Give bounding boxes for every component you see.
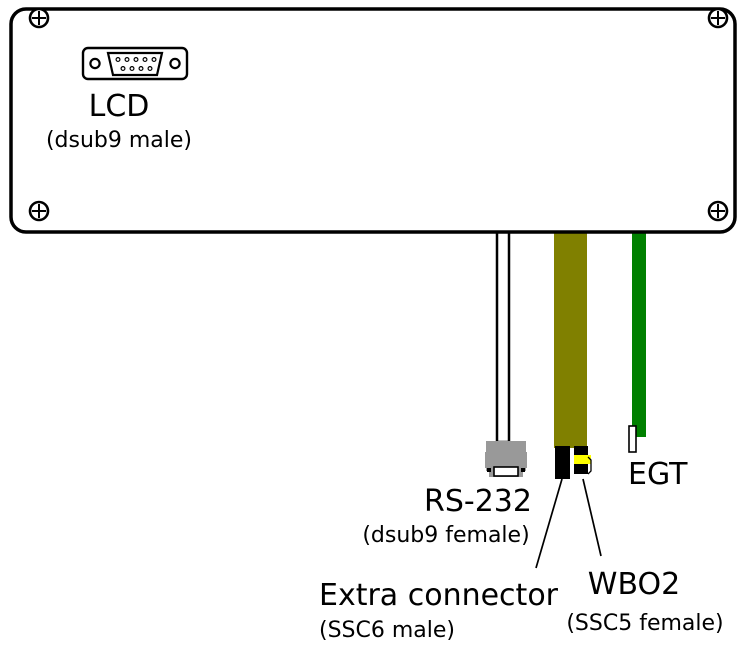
rs232-sublabel: (dsub9 female) [362,525,529,547]
leader-extra-connector [536,479,562,568]
wbo2-sublabel: (SSC5 female) [566,613,723,635]
extra-connector-sublabel: (SSC6 male) [319,620,455,642]
lcd-screwhole-right-icon [170,59,179,68]
connector-pinout-diagram: LCD (dsub9 male) RS-232 (dsub9 female) E… [0,0,747,661]
extra-ssc6-male-connector[interactable] [555,446,570,479]
egt-label: EGT [628,460,687,490]
screw-top-right [709,9,727,27]
wbo2-label: WBO2 [588,570,680,600]
rs232-dsub9-female-connector[interactable] [485,441,527,477]
screw-top-left [30,9,48,27]
screw-bottom-left [30,202,48,220]
leader-lines [536,479,601,568]
rs232-label: RS-232 [424,487,532,517]
lcd-label: LCD [89,92,150,122]
leader-wbo2 [583,479,601,556]
extra-connector-label: Extra connector [319,581,558,611]
lcd-dsub9-male-connector[interactable] [83,48,187,79]
lcd-sublabel: (dsub9 male) [46,130,192,152]
screw-bottom-right [709,202,727,220]
lcd-screwhole-left-icon [90,59,99,68]
wbo2-ssc5-female-connector[interactable] [574,446,591,474]
